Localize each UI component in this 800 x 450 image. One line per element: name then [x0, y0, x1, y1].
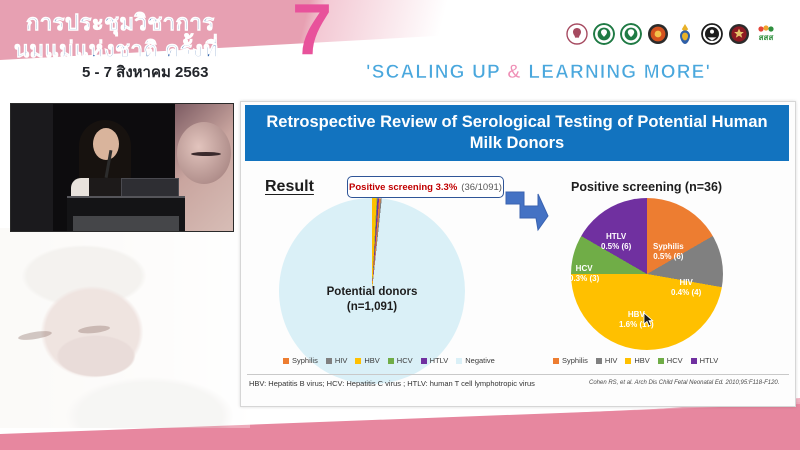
speaker-face	[93, 128, 119, 160]
slide-title-bar: Retrospective Review of Serological Test…	[245, 105, 789, 161]
slice-value-hcv: 0.3% (3)	[569, 274, 599, 284]
legend2-swatch-htlv	[691, 358, 697, 364]
legend2-swatch-hiv	[596, 358, 602, 364]
tagline-part2: LEARNING MORE'	[522, 62, 711, 83]
tagline-part1: 'SCALING UP	[366, 62, 507, 83]
legend2-label-hiv: HIV	[605, 356, 618, 365]
legend-potential-donors: Syphilis HIV HBV HCV HTLV Negative	[283, 356, 495, 365]
legend2-label-hcv: HCV	[667, 356, 683, 365]
callout-secondary-text: (36/1091)	[461, 182, 502, 193]
legend-label-hcv: HCV	[397, 356, 413, 365]
result-heading: Result	[265, 178, 314, 196]
legend-swatch-hiv	[326, 358, 332, 364]
legend2-item-htlv[interactable]: HTLV	[691, 356, 719, 365]
pie-slice-label-hcv: HCV 0.3% (3)	[569, 264, 599, 283]
slice-value-htlv: 0.5% (6)	[601, 242, 631, 252]
sponsor-logo-strip: สสส	[566, 23, 777, 45]
legend-item-hbv[interactable]: HBV	[355, 356, 379, 365]
mouse-cursor-icon	[643, 312, 654, 327]
projected-baby-eye	[191, 152, 221, 156]
slice-name-syphilis: Syphilis	[653, 242, 684, 252]
podium-base	[73, 216, 179, 231]
page-title: Retrospective Review of Serological Test…	[255, 112, 779, 154]
legend-item-htlv[interactable]: HTLV	[421, 356, 449, 365]
logo-maternal-seal-icon	[566, 23, 588, 45]
potential-donors-count: (n=1,091)	[279, 301, 465, 313]
pie-slice-label-syphilis: Syphilis 0.5% (6)	[653, 242, 684, 261]
logo-ministry-health-green-icon	[593, 23, 615, 45]
legend2-item-syphilis[interactable]: Syphilis	[553, 356, 588, 365]
legend-item-negative[interactable]: Negative	[456, 356, 495, 365]
logo-dark-red-seal-icon	[728, 23, 750, 45]
legend-swatch-hcv	[388, 358, 394, 364]
background-child-photo	[0, 228, 250, 428]
slice-name-hcv: HCV	[569, 264, 599, 274]
logo-royal-emblem-icon	[674, 23, 696, 45]
legend-positive-screening: Syphilis HIV HBV HCV HTLV	[553, 356, 718, 365]
conference-date: 5 - 7 สิงหาคม 2563	[82, 60, 208, 84]
potential-donors-label: Potential donors	[279, 286, 465, 298]
legend-swatch-htlv	[421, 358, 427, 364]
conference-tagline: 'SCALING UP & LEARNING MORE'	[366, 62, 711, 84]
legend-label-syphilis: Syphilis	[292, 356, 318, 365]
legend-label-htlv: HTLV	[430, 356, 449, 365]
speaker-video-thumbnail[interactable]	[10, 103, 234, 232]
pie-slice-label-hiv: HIV 0.4% (4)	[671, 278, 701, 297]
legend2-item-hbv[interactable]: HBV	[625, 356, 649, 365]
legend-label-hbv: HBV	[364, 356, 379, 365]
legend-swatch-hbv	[355, 358, 361, 364]
callout-primary-text: Positive screening 3.3%	[349, 182, 457, 193]
legend-label-hiv: HIV	[335, 356, 348, 365]
pie-slice-label-htlv: HTLV 0.5% (6)	[601, 232, 631, 251]
legend2-label-hbv: HBV	[634, 356, 649, 365]
legend-swatch-syphilis	[283, 358, 289, 364]
legend2-label-htlv: HTLV	[700, 356, 719, 365]
logo-black-circle-icon	[701, 23, 723, 45]
abbreviation-footnote: HBV: Hepatitis B virus; HCV: Hepatitis C…	[249, 379, 535, 388]
down-right-arrow-icon	[502, 190, 550, 234]
legend2-swatch-hbv	[625, 358, 631, 364]
tagline-ampersand: &	[507, 62, 522, 83]
legend2-label-syphilis: Syphilis	[562, 356, 588, 365]
legend-item-hcv[interactable]: HCV	[388, 356, 413, 365]
presentation-screen: การประชุมวิชาการ นมแม่แห่งชาติ ครั้งที่ …	[0, 0, 800, 450]
stage-wall-left	[11, 104, 53, 231]
legend2-item-hcv[interactable]: HCV	[658, 356, 683, 365]
logo-thaihealth-sss-icon: สสส	[755, 23, 777, 45]
conference-edition-number: 7	[292, 0, 332, 66]
legend-swatch-negative	[456, 358, 462, 364]
source-citation: Cohen RS, et al. Arch Dis Child Fetal Ne…	[589, 380, 779, 386]
legend-item-hiv[interactable]: HIV	[326, 356, 348, 365]
slice-value-syphilis: 0.5% (6)	[653, 252, 684, 262]
positive-screening-callout: Positive screening 3.3% (36/1091)	[347, 176, 504, 198]
legend-label-negative: Negative	[465, 356, 495, 365]
legend2-swatch-syphilis	[553, 358, 559, 364]
legend2-swatch-hcv	[658, 358, 664, 364]
legend2-item-hiv[interactable]: HIV	[596, 356, 618, 365]
logo-health-dept-green-icon	[620, 23, 642, 45]
legend-item-syphilis[interactable]: Syphilis	[283, 356, 318, 365]
positive-screening-pie-chart: Syphilis 0.5% (6) HIV 0.4% (4) HBV 1.6% …	[571, 198, 731, 358]
slice-name-hiv: HIV	[671, 278, 701, 288]
footnote-divider	[247, 374, 789, 375]
slice-name-htlv: HTLV	[601, 232, 631, 242]
logo-royal-orange-seal-icon	[647, 23, 669, 45]
positive-screening-pie-title: Positive screening (n=36)	[571, 180, 722, 194]
svg-text:สสส: สสส	[759, 33, 774, 42]
slice-value-hiv: 0.4% (4)	[671, 288, 701, 298]
slide-content: Retrospective Review of Serological Test…	[240, 101, 796, 407]
